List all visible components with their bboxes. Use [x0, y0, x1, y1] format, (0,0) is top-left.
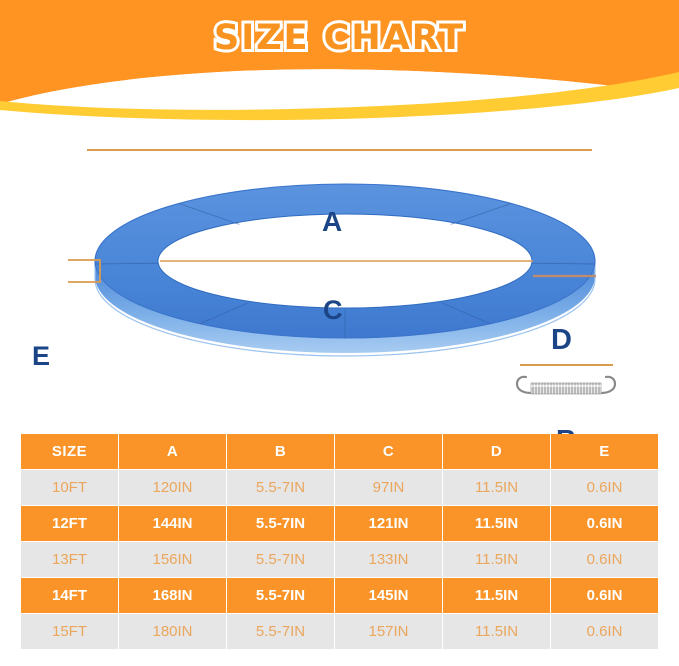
cell-e: 0.6IN [551, 470, 658, 505]
cell-size: 15FT [21, 614, 118, 649]
column-header-c: C [335, 434, 442, 469]
cell-c: 133IN [335, 542, 442, 577]
dimension-label-e: E [32, 343, 50, 370]
cell-e: 0.6IN [551, 542, 658, 577]
table-row: 10FT 120IN 5.5-7IN 97IN 11.5IN 0.6IN [21, 470, 658, 505]
column-header-size: SIZE [21, 434, 118, 469]
cell-d: 11.5IN [443, 614, 550, 649]
cell-a: 168IN [119, 578, 226, 613]
cell-e: 0.6IN [551, 614, 658, 649]
cell-a: 144IN [119, 506, 226, 541]
table-header-row: SIZE A B C D E [21, 434, 658, 469]
cell-b: 5.5-7IN [227, 542, 334, 577]
table-row: 14FT 168IN 5.5-7IN 145IN 11.5IN 0.6IN [21, 578, 658, 613]
cell-a: 180IN [119, 614, 226, 649]
table-row: 15FT 180IN 5.5-7IN 157IN 11.5IN 0.6IN [21, 614, 658, 649]
dimension-label-c: C [323, 297, 343, 324]
cell-c: 145IN [335, 578, 442, 613]
cell-c: 121IN [335, 506, 442, 541]
table-row: 12FT 144IN 5.5-7IN 121IN 11.5IN 0.6IN [21, 506, 658, 541]
size-chart-table-wrapper: SIZE A B C D E 10FT 120IN 5.5-7IN 97IN 1… [20, 433, 659, 650]
trampoline-diagram: A C D E B [0, 100, 679, 430]
page-title: SIZE CHART [0, 18, 679, 58]
column-header-b: B [227, 434, 334, 469]
column-header-e: E [551, 434, 658, 469]
column-header-d: D [443, 434, 550, 469]
cell-c: 157IN [335, 614, 442, 649]
cell-d: 11.5IN [443, 578, 550, 613]
cell-e: 0.6IN [551, 506, 658, 541]
cell-size: 10FT [21, 470, 118, 505]
table-row: 13FT 156IN 5.5-7IN 133IN 11.5IN 0.6IN [21, 542, 658, 577]
cell-d: 11.5IN [443, 506, 550, 541]
cell-size: 14FT [21, 578, 118, 613]
cell-d: 11.5IN [443, 542, 550, 577]
spring-hook-left [517, 377, 531, 393]
size-chart-table: SIZE A B C D E 10FT 120IN 5.5-7IN 97IN 1… [20, 433, 659, 650]
spring-illustration [517, 377, 615, 394]
dimension-label-d: D [551, 326, 572, 355]
cell-b: 5.5-7IN [227, 614, 334, 649]
cell-size: 12FT [21, 506, 118, 541]
spring-hook-right [601, 377, 615, 393]
cell-c: 97IN [335, 470, 442, 505]
cell-d: 11.5IN [443, 470, 550, 505]
cell-a: 120IN [119, 470, 226, 505]
trampoline-illustration [0, 100, 679, 430]
page-header: SIZE CHART SIZE CHART [0, 0, 679, 132]
cell-b: 5.5-7IN [227, 578, 334, 613]
cell-size: 13FT [21, 542, 118, 577]
cell-e: 0.6IN [551, 578, 658, 613]
cell-a: 156IN [119, 542, 226, 577]
cell-b: 5.5-7IN [227, 506, 334, 541]
dimension-label-a: A [322, 208, 342, 236]
column-header-a: A [119, 434, 226, 469]
cell-b: 5.5-7IN [227, 470, 334, 505]
